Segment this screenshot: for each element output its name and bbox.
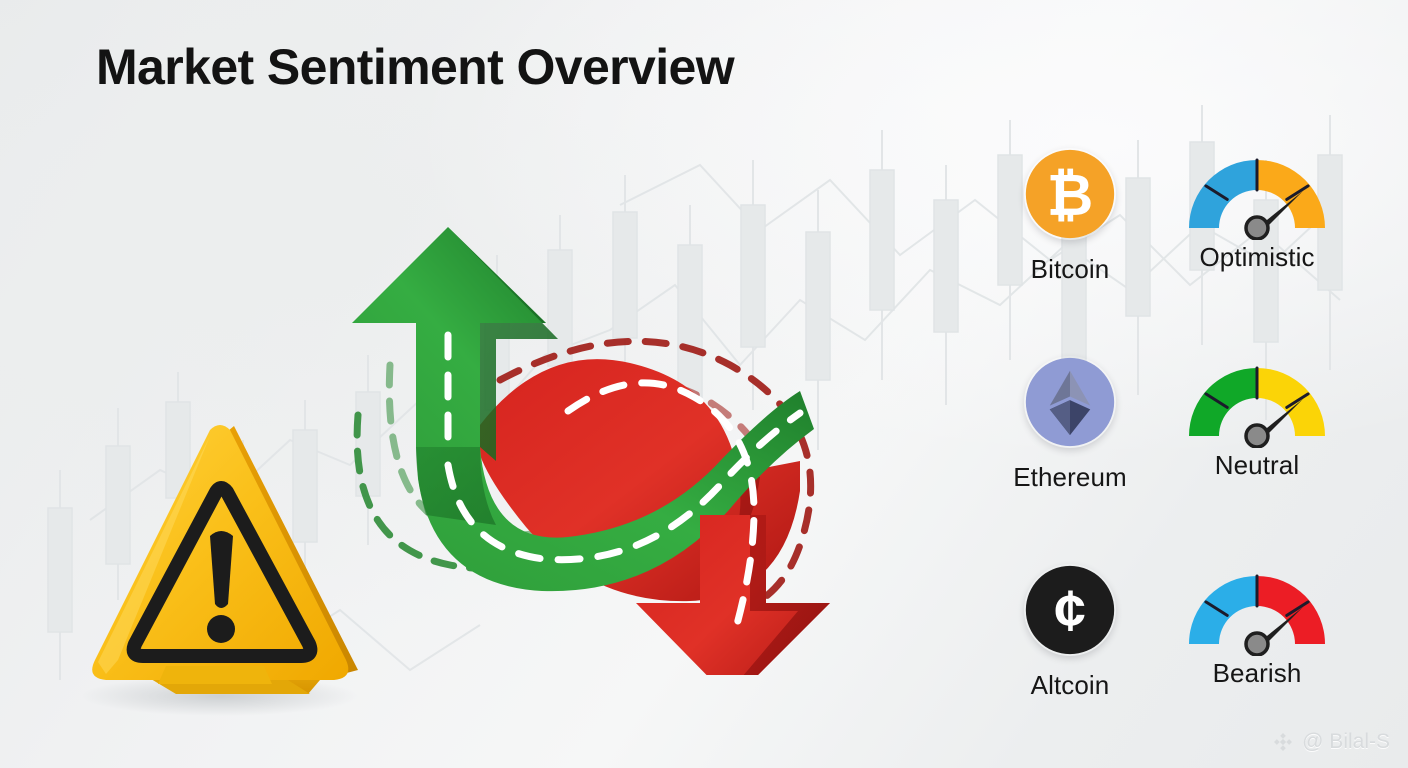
ethereum-icon: [1024, 356, 1116, 448]
coin-label-bitcoin: Bitcoin: [975, 254, 1165, 285]
market-trend-arrows: [330, 215, 900, 675]
sentiment-row-bitcoin[interactable]: ₿ Bitcoin Optimistic: [975, 130, 1375, 330]
altcoin-icon: ¢: [1024, 564, 1116, 656]
sentiment-row-ethereum[interactable]: Ethereum Neutral: [975, 338, 1375, 538]
coin-label-ethereum: Ethereum: [975, 462, 1165, 493]
svg-text:₿: ₿: [1047, 164, 1093, 228]
coin-block-altcoin[interactable]: ¢ Altcoin: [975, 564, 1165, 701]
page-title: Market Sentiment Overview: [96, 38, 734, 96]
gauge-block-altcoin[interactable]: Bearish: [1147, 552, 1367, 689]
gauge-bearish: [1177, 552, 1337, 656]
gauge-neutral: [1177, 344, 1337, 448]
sentiment-list: ₿ Bitcoin Optimistic: [975, 130, 1375, 750]
sentiment-row-altcoin[interactable]: ¢ Altcoin Bearish: [975, 546, 1375, 746]
coin-label-altcoin: Altcoin: [975, 670, 1165, 701]
gauge-block-ethereum[interactable]: Neutral: [1147, 344, 1367, 481]
gauge-label-altcoin: Bearish: [1147, 658, 1367, 689]
bitcoin-icon: ₿: [1024, 148, 1116, 240]
slide-canvas: Market Sentiment Overview: [0, 0, 1408, 768]
gauge-label-bitcoin: Optimistic: [1147, 242, 1367, 273]
coin-block-ethereum[interactable]: Ethereum: [975, 356, 1165, 493]
gauge-optimistic: [1177, 136, 1337, 240]
gauge-block-bitcoin[interactable]: Optimistic: [1147, 136, 1367, 273]
gauge-label-ethereum: Neutral: [1147, 450, 1367, 481]
coin-block-bitcoin[interactable]: ₿ Bitcoin: [975, 148, 1165, 285]
watermark: @ Bilal-S: [1272, 730, 1390, 754]
binance-diamond-icon: [1272, 731, 1294, 753]
watermark-text: @ Bilal-S: [1302, 730, 1390, 754]
svg-text:¢: ¢: [1054, 579, 1086, 643]
